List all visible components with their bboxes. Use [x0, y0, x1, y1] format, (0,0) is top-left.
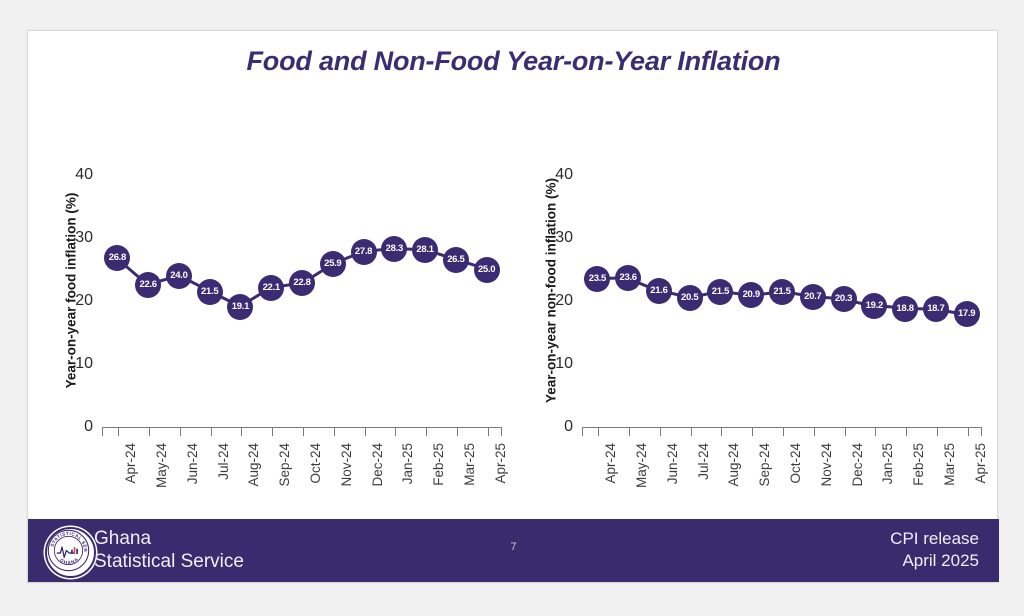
- x-tick-mark: [752, 428, 753, 436]
- page-number: 7: [28, 541, 999, 553]
- y-tick-label: 30: [555, 229, 573, 247]
- x-tick-label: Mar-25: [942, 443, 957, 523]
- x-tick-mark: [118, 428, 119, 436]
- x-tick-mark: [937, 428, 938, 436]
- x-axis-non-food: [582, 427, 982, 436]
- data-point-marker: 27.8: [351, 239, 377, 265]
- y-axis-title-food: Year-on-year food inflation (%): [64, 166, 79, 416]
- x-tick-label: Aug-24: [726, 443, 741, 523]
- x-tick-label: Jul-24: [216, 443, 231, 523]
- x-tick-label: Apr-24: [603, 443, 618, 523]
- x-tick-mark: [303, 428, 304, 436]
- x-tick-mark: [906, 428, 907, 436]
- x-tick-mark: [272, 428, 273, 436]
- page-title: Food and Non-Food Year-on-Year Inflation: [28, 46, 999, 77]
- x-tick-mark: [845, 428, 846, 436]
- data-point-marker: 21.6: [646, 278, 672, 304]
- x-tick-label: Nov-24: [339, 443, 354, 523]
- x-tick-mark: [211, 428, 212, 436]
- y-tick-label: 0: [564, 418, 573, 436]
- release-date: April 2025: [890, 550, 979, 572]
- x-tick-mark: [875, 428, 876, 436]
- data-point-marker: 18.8: [892, 296, 918, 322]
- data-point-marker: 19.1: [227, 294, 253, 320]
- release-title: CPI release: [890, 528, 979, 550]
- y-tick-label: 40: [75, 166, 93, 184]
- data-point-marker: 21.5: [197, 279, 223, 305]
- x-tick-mark: [149, 428, 150, 436]
- x-tick-mark: [334, 428, 335, 436]
- x-tick-mark: [488, 428, 489, 436]
- x-tick-label: May-24: [634, 443, 649, 523]
- data-point-marker: 23.5: [584, 266, 610, 292]
- data-point-marker: 25.0: [474, 257, 500, 283]
- data-point-marker: 20.5: [677, 285, 703, 311]
- x-tick-label: Apr-25: [493, 443, 508, 523]
- x-tick-label: May-24: [154, 443, 169, 523]
- y-tick-label: 10: [75, 355, 93, 373]
- y-tick-label: 20: [75, 292, 93, 310]
- chart-non-food-inflation: Year-on-year non-food inflation (%) 0102…: [510, 171, 990, 521]
- x-tick-label: Feb-25: [911, 443, 926, 523]
- data-point-marker: 21.5: [769, 279, 795, 305]
- y-tick-label: 20: [555, 292, 573, 310]
- slide-footer: STATISTICAL SERVICE GHANA Ghana Statisti…: [28, 519, 999, 582]
- x-tick-mark: [365, 428, 366, 436]
- x-tick-mark: [241, 428, 242, 436]
- x-tick-label: Jan-25: [400, 443, 415, 523]
- x-tick-label: Oct-24: [788, 443, 803, 523]
- y-tick-label: 40: [555, 166, 573, 184]
- data-point-marker: 24.0: [166, 263, 192, 289]
- plot-area-food: 01020304026.822.624.021.519.122.122.825.…: [102, 175, 502, 427]
- data-point-marker: 25.9: [320, 251, 346, 277]
- data-point-marker: 22.1: [258, 275, 284, 301]
- data-point-marker: 20.3: [831, 286, 857, 312]
- x-tick-mark: [721, 428, 722, 436]
- data-point-marker: 22.6: [135, 272, 161, 298]
- release-info: CPI release April 2025: [890, 528, 979, 572]
- plot-area-non-food: 01020304023.523.621.620.521.520.921.520.…: [582, 175, 982, 427]
- data-point-marker: 28.3: [381, 236, 407, 262]
- x-tick-label: Feb-25: [431, 443, 446, 523]
- x-tick-mark: [457, 428, 458, 436]
- x-tick-label: Jan-25: [880, 443, 895, 523]
- x-tick-label: Mar-25: [462, 443, 477, 523]
- x-tick-mark: [598, 428, 599, 436]
- data-point-marker: 19.2: [861, 293, 887, 319]
- data-point-marker: 26.5: [443, 247, 469, 273]
- data-point-marker: 22.8: [289, 270, 315, 296]
- x-tick-mark: [426, 428, 427, 436]
- x-tick-label: Jul-24: [696, 443, 711, 523]
- x-tick-label: Oct-24: [308, 443, 323, 523]
- x-tick-label: Jun-24: [185, 443, 200, 523]
- org-name-line2: Statistical Service: [94, 550, 244, 573]
- data-point-marker: 23.6: [615, 265, 641, 291]
- x-tick-mark: [660, 428, 661, 436]
- x-tick-label: Apr-24: [123, 443, 138, 523]
- data-point-marker: 28.1: [412, 237, 438, 263]
- data-point-marker: 20.9: [738, 282, 764, 308]
- x-tick-label: Apr-25: [973, 443, 988, 523]
- x-tick-label: Aug-24: [246, 443, 261, 523]
- x-tick-mark: [395, 428, 396, 436]
- data-point-marker: 20.7: [800, 284, 826, 310]
- x-tick-mark: [691, 428, 692, 436]
- x-tick-mark: [814, 428, 815, 436]
- y-tick-label: 10: [555, 355, 573, 373]
- data-point-marker: 18.7: [923, 296, 949, 322]
- y-tick-label: 30: [75, 229, 93, 247]
- x-tick-mark: [968, 428, 969, 436]
- x-tick-mark: [180, 428, 181, 436]
- chart-food-inflation: Year-on-year food inflation (%) 01020304…: [30, 171, 510, 521]
- presentation-slide: Food and Non-Food Year-on-Year Inflation…: [27, 30, 998, 583]
- x-tick-mark: [629, 428, 630, 436]
- x-tick-mark: [783, 428, 784, 436]
- x-tick-label: Sep-24: [757, 443, 772, 523]
- data-point-marker: 17.9: [954, 301, 980, 327]
- data-point-marker: 21.5: [707, 279, 733, 305]
- y-axis-title-non-food: Year-on-year non-food inflation (%): [544, 166, 559, 416]
- x-tick-label: Sep-24: [277, 443, 292, 523]
- x-tick-label: Jun-24: [665, 443, 680, 523]
- y-tick-label: 0: [84, 418, 93, 436]
- x-tick-label: Dec-24: [370, 443, 385, 523]
- x-axis-food: [102, 427, 502, 436]
- x-tick-label: Dec-24: [850, 443, 865, 523]
- x-tick-label: Nov-24: [819, 443, 834, 523]
